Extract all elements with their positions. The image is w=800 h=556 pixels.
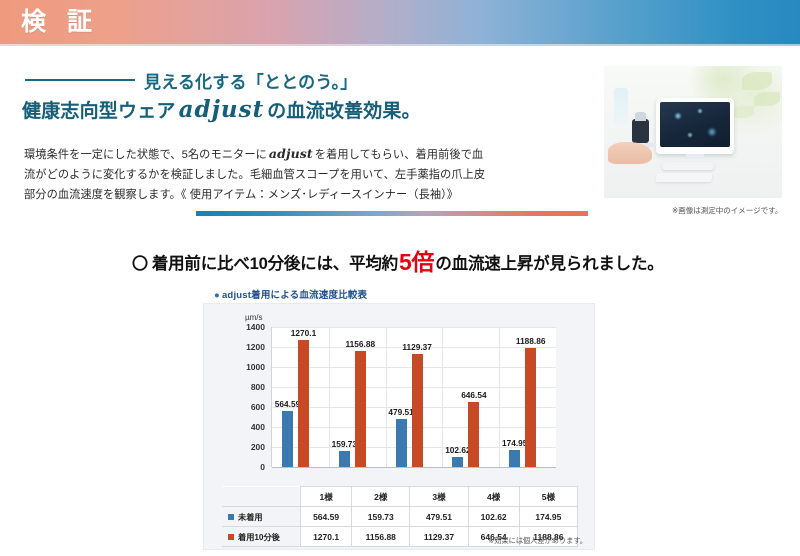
page-title: 検 証 xyxy=(21,6,99,38)
bar-value-label: 1129.37 xyxy=(402,342,432,352)
bar-post-wear xyxy=(298,340,309,467)
legend-swatch-icon xyxy=(228,514,234,520)
photo-caption: ※画像は測定中のイメージです。 xyxy=(672,205,798,216)
bar-pre-wear xyxy=(452,457,463,467)
lead-body-paragraph: 環境条件を一定にした状態で、5名のモニターにadjustを着用してもらい、着用前… xyxy=(24,144,494,205)
y-axis-tick-label: 1400 xyxy=(246,322,265,332)
photo-leaf-icon xyxy=(742,72,772,90)
headline-brand-adjust: adjust xyxy=(176,96,268,123)
bar-pre-wear xyxy=(509,450,520,467)
category-separator xyxy=(386,327,387,467)
photo-microscope-body xyxy=(632,119,649,143)
table-column-header: 5様 xyxy=(519,487,577,507)
category-separator xyxy=(442,327,443,467)
bar-pre-wear xyxy=(282,411,293,467)
table-cell-value: 159.73 xyxy=(352,507,410,527)
result-headline: 〇着用前に比べ10分後には、平均約5倍の血流速上昇が見られました。 xyxy=(132,243,664,277)
table-header-row: 1様2様3様4様5様 xyxy=(222,487,578,507)
lead-heading-block: 見える化する「ととのう。」 健康志向型ウェアadjustの血流改善効果。 xyxy=(22,68,562,123)
headline-prefix: 健康志向型ウェア xyxy=(22,101,176,122)
result-emphasis-5x: 5倍 xyxy=(398,249,435,275)
bar-group: 564.591270.1 xyxy=(272,327,329,467)
page-header-banner xyxy=(0,0,800,44)
photo-monitor-screen xyxy=(660,102,730,147)
y-axis: 0200400600800100012001400 xyxy=(240,327,268,467)
result-text-after: の血流速上昇が見られました。 xyxy=(435,255,663,273)
kicker-rule xyxy=(25,79,135,81)
body-line3: 流速度を観察します。《 使用アイテム：メンズ･レディースインナー（長袖）》 xyxy=(69,189,458,201)
table-cell-value: 479.51 xyxy=(410,507,468,527)
photo-hand xyxy=(608,142,652,164)
chart-footnote: ※効果には個人差があります。 xyxy=(488,536,587,546)
table-cell-value: 564.59 xyxy=(301,507,352,527)
table-cell-value: 174.95 xyxy=(519,507,577,527)
gridline xyxy=(272,467,556,468)
table-cell-value: 1129.37 xyxy=(410,527,468,547)
photo-bottle-object xyxy=(614,88,628,126)
bar-value-label: 174.95 xyxy=(502,438,527,448)
table-corner-cell xyxy=(222,487,301,507)
lead-headline: 健康志向型ウェアadjustの血流改善効果。 xyxy=(22,96,562,123)
bar-post-wear xyxy=(355,351,366,467)
table-column-header: 4様 xyxy=(468,487,519,507)
y-axis-tick-label: 800 xyxy=(251,382,265,392)
y-axis-tick-label: 600 xyxy=(251,402,265,412)
plot-area: 564.591270.1159.731156.88479.511129.3710… xyxy=(271,327,556,467)
bar-post-wear xyxy=(412,354,423,467)
table-cell-value: 1270.1 xyxy=(301,527,352,547)
circle-mark-icon: 〇 xyxy=(132,256,152,273)
table-cell-value: 1156.88 xyxy=(352,527,410,547)
table-column-header: 1様 xyxy=(301,487,352,507)
bar-group: 479.511129.37 xyxy=(386,327,443,467)
bar-value-label: 1188.86 xyxy=(516,336,546,346)
body-brand-adjust: adjust xyxy=(267,146,315,161)
category-separator xyxy=(329,327,330,467)
headline-suffix: の血流改善効果。 xyxy=(267,101,421,122)
lead-kicker-row: 見える化する「ととのう。」 xyxy=(22,68,562,92)
photo-monitor-stand xyxy=(686,154,704,159)
bar-value-label: 159.73 xyxy=(332,439,357,449)
legend-label-pre-wear: 未着用 xyxy=(222,507,301,527)
y-axis-tick-label: 0 xyxy=(260,462,265,472)
y-axis-tick-label: 200 xyxy=(251,442,265,452)
chart-title: ●adjust着用による血流速度比較表 xyxy=(214,287,367,301)
bar-value-label: 1270.1 xyxy=(291,328,316,338)
y-axis-tick-label: 1000 xyxy=(246,362,265,372)
header-underline xyxy=(0,44,800,46)
legend-swatch-icon xyxy=(228,534,234,540)
bar-value-label: 102.62 xyxy=(445,445,470,455)
bar-value-label: 1156.88 xyxy=(346,339,376,349)
photo-leaf-icon xyxy=(754,92,780,106)
bar-pre-wear xyxy=(396,419,407,467)
photo-leaf-icon xyxy=(732,106,754,118)
measurement-photo xyxy=(604,66,782,198)
bar-group: 174.951188.86 xyxy=(499,327,556,467)
bar-value-label: 646.54 xyxy=(461,390,486,400)
gradient-divider xyxy=(196,211,588,216)
result-text-before: 着用前に比べ10分後には、平均約 xyxy=(152,255,398,273)
bar-pre-wear xyxy=(339,451,350,467)
table-column-header: 3様 xyxy=(410,487,468,507)
bar-value-label: 479.51 xyxy=(388,407,413,417)
bar-group: 102.62646.54 xyxy=(442,327,499,467)
bar-group: 159.731156.88 xyxy=(329,327,386,467)
bar-post-wear xyxy=(468,402,479,467)
y-axis-tick-label: 1200 xyxy=(246,342,265,352)
photo-keyboard xyxy=(655,173,712,182)
legend-label-post-wear: 着用10分後 xyxy=(222,527,301,547)
bar-post-wear xyxy=(525,348,536,467)
bullet-icon: ● xyxy=(214,290,222,301)
chart-panel: µm/s 0200400600800100012001400 564.59127… xyxy=(203,303,595,550)
lead-kicker-text: 見える化する「ととのう。」 xyxy=(144,68,357,93)
body-line1-part-a: 環境条件を一定にした状態で、5名のモニターに xyxy=(24,149,267,161)
table-column-header: 2様 xyxy=(352,487,410,507)
bar-value-label: 564.59 xyxy=(275,399,300,409)
category-separator xyxy=(499,327,500,467)
y-axis-tick-label: 400 xyxy=(251,422,265,432)
photo-microscope-cap xyxy=(635,112,646,121)
table-cell-value: 102.62 xyxy=(468,507,519,527)
y-axis-unit-label: µm/s xyxy=(245,313,263,322)
chart-title-text: adjust着用による血流速度比較表 xyxy=(222,290,367,301)
table-row: 未着用564.59159.73479.51102.62174.95 xyxy=(222,507,578,527)
photo-monitor-base xyxy=(662,162,714,170)
plot-wrapper: 0200400600800100012001400 564.591270.115… xyxy=(240,327,558,485)
